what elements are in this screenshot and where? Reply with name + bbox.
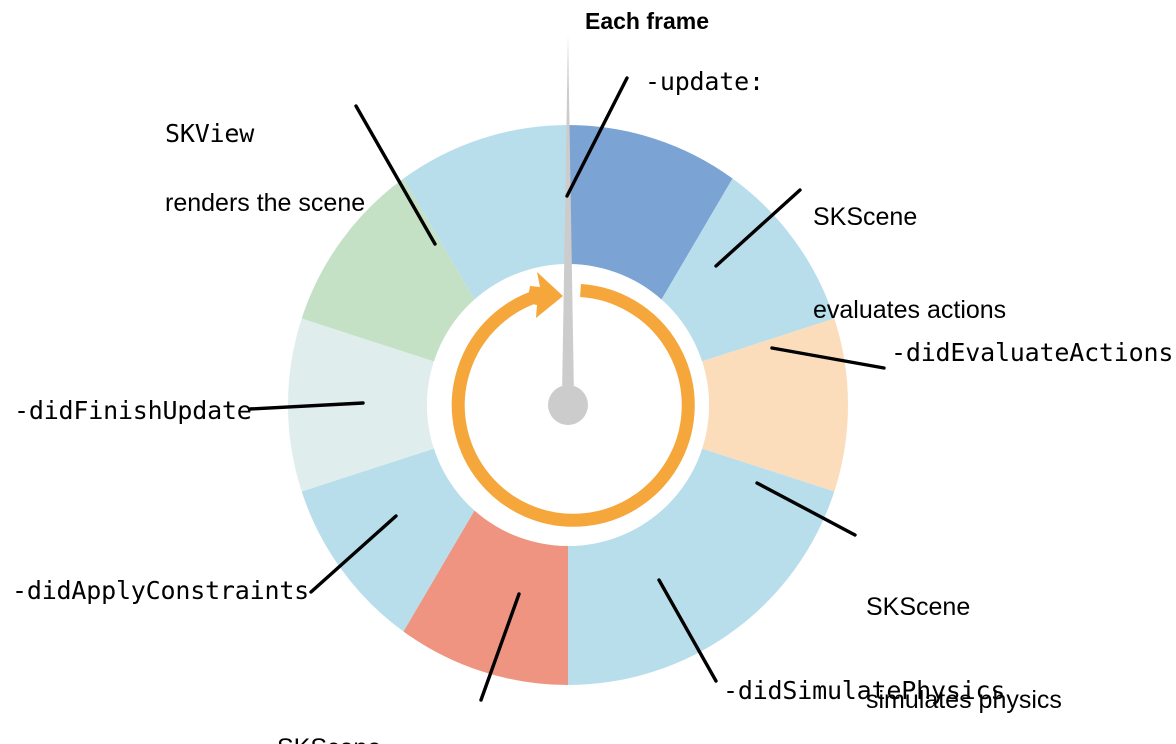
label-update: -update: <box>645 66 764 97</box>
label-renders-scene-line1: SKView <box>165 118 365 149</box>
label-applies-constraints-line1: SKScene <box>277 733 484 744</box>
needle-hub <box>548 385 588 425</box>
label-did-finish-update: -didFinishUpdate <box>14 395 252 426</box>
label-renders-scene: SKView renders the scene <box>165 78 365 259</box>
label-evaluates-actions-line2: evaluates actions <box>813 295 1006 326</box>
label-simulates-physics-line1: SKScene <box>866 592 1062 623</box>
label-evaluates-actions-line1: SKScene <box>813 202 1006 233</box>
diagram-canvas: Each frame -update: SKScene evaluates ac… <box>0 0 1176 744</box>
label-did-evaluate-actions: -didEvaluateActions <box>891 337 1173 368</box>
label-simulates-physics: SKScene simulates physics <box>866 530 1062 744</box>
label-did-simulate-physics: -didSimulatePhysics <box>723 675 1005 706</box>
label-did-apply-constraints: -didApplyConstraints <box>12 575 309 606</box>
label-applies-constraints: SKScene applies constraints <box>277 671 484 744</box>
label-renders-scene-line2: renders the scene <box>165 188 365 219</box>
page-title: Each frame <box>585 7 709 36</box>
